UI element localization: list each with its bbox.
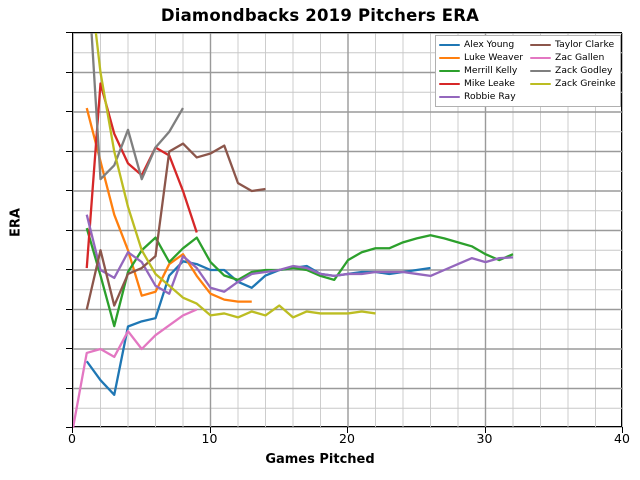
legend-item: Zack Godley (530, 65, 616, 77)
y-tick-mark (66, 151, 72, 152)
legend-swatch (530, 44, 551, 47)
x-tick-mark (72, 427, 73, 433)
x-tick-mark (210, 427, 211, 433)
chart-legend: Alex YoungLuke WeaverMerrill KellyMike L… (435, 35, 621, 107)
legend-label: Mike Leake (464, 79, 515, 89)
chart-figure: Diamondbacks 2019 Pitchers ERA ERA Games… (0, 0, 640, 480)
x-tick-label: 10 (180, 431, 240, 446)
legend-swatch (530, 83, 551, 86)
chart-title: Diamondbacks 2019 Pitchers ERA (0, 6, 640, 25)
legend-label: Luke Weaver (464, 53, 523, 63)
x-tick-mark (622, 427, 623, 433)
y-tick-mark (66, 230, 72, 231)
legend-item: Zack Greinke (530, 78, 616, 90)
legend-label: Robbie Ray (464, 92, 516, 102)
x-tick-mark (485, 427, 486, 433)
legend-swatch (530, 57, 551, 60)
legend-item: Robbie Ray (439, 91, 523, 103)
legend-column-right: Taylor ClarkeZac GallenZack GodleyZack G… (530, 39, 616, 103)
y-tick-mark (66, 72, 72, 73)
x-tick-label: 40 (592, 431, 640, 446)
legend-swatch (439, 57, 460, 60)
x-tick-label: 30 (455, 431, 515, 446)
legend-item: Mike Leake (439, 78, 523, 90)
y-tick-mark (66, 269, 72, 270)
legend-item: Taylor Clarke (530, 39, 616, 51)
x-axis-label: Games Pitched (0, 452, 640, 467)
y-axis-label: ERA (2, 0, 24, 480)
y-tick-mark (66, 190, 72, 191)
legend-label: Zack Greinke (555, 79, 616, 89)
y-tick-mark (66, 348, 72, 349)
legend-item: Merrill Kelly (439, 65, 523, 77)
y-axis-label-text: ERA (9, 193, 24, 253)
legend-item: Alex Young (439, 39, 523, 51)
legend-swatch (439, 70, 460, 73)
y-tick-mark (66, 32, 72, 33)
y-tick-mark (66, 388, 72, 389)
legend-swatch (439, 96, 460, 99)
y-tick-mark (66, 111, 72, 112)
series-line-robbie-ray (87, 215, 513, 294)
legend-swatch (439, 83, 460, 86)
x-tick-label: 0 (42, 431, 102, 446)
legend-item: Luke Weaver (439, 52, 523, 64)
x-tick-mark (347, 427, 348, 433)
legend-label: Merrill Kelly (464, 66, 517, 76)
legend-label: Zac Gallen (555, 53, 604, 63)
series-line-taylor-clarke (87, 144, 266, 310)
legend-label: Alex Young (464, 40, 514, 50)
y-tick-mark (66, 309, 72, 310)
legend-label: Zack Godley (555, 66, 612, 76)
legend-swatch (439, 44, 460, 47)
legend-label: Taylor Clarke (555, 40, 614, 50)
legend-swatch (530, 70, 551, 73)
legend-item: Zac Gallen (530, 52, 616, 64)
x-tick-label: 20 (317, 431, 377, 446)
legend-column-left: Alex YoungLuke WeaverMerrill KellyMike L… (439, 39, 523, 103)
